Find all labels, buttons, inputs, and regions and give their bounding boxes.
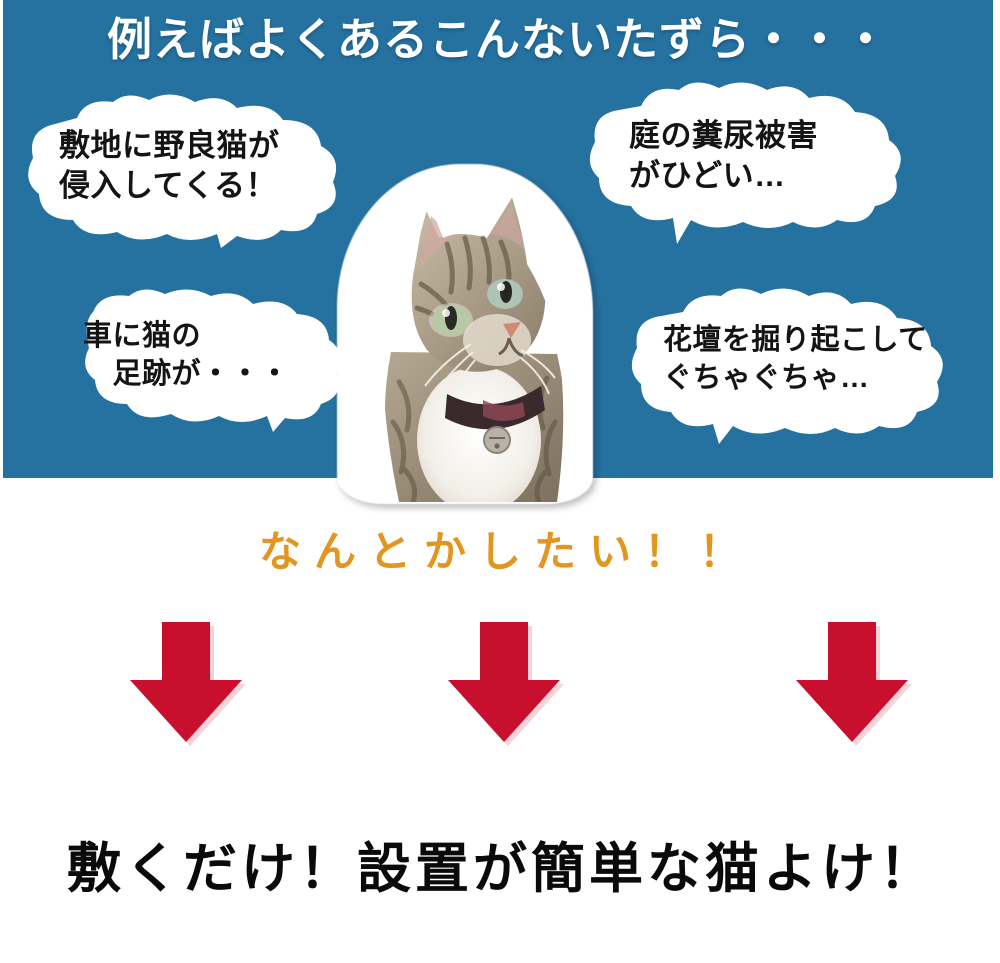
cat-photo <box>351 172 579 502</box>
hero-panel: 例えばよくあるこんないたずら・・・ <box>3 0 993 478</box>
bubble-text: 敷地に野良猫が 侵入してくる！ <box>59 126 280 207</box>
want-solution-caption: なんとかしたい！！ <box>0 518 1000 579</box>
speech-bubble-garden-waste-damage: 庭の糞尿被害 がひどい… <box>581 84 911 244</box>
speech-bubble-flowerbed-dug-up: 花壇を掘り起こして ぐちゃぐちゃ… <box>625 292 955 444</box>
bubble-text: 花壇を掘り起こして ぐちゃぐちゃ… <box>663 322 928 397</box>
speech-bubble-car-paw-prints: 車に猫の 足跡が・・・ <box>41 292 347 432</box>
down-arrow-icon <box>790 618 914 746</box>
bubble-text: 車に猫の 足跡が・・・ <box>83 318 290 393</box>
bubble-text: 庭の糞尿被害 がひどい… <box>629 116 818 197</box>
down-arrow-icon <box>442 618 566 746</box>
down-arrow-icon <box>124 618 248 746</box>
cat-illustration <box>351 172 579 502</box>
closing-headline: 敷くだけ！設置が簡単な猫よけ！ <box>0 824 1000 903</box>
speech-bubble-stray-cat-intrusion: 敷地に野良猫が 侵入してくる！ <box>21 96 351 248</box>
page-title: 例えばよくあるこんないたずら・・・ <box>3 16 993 63</box>
